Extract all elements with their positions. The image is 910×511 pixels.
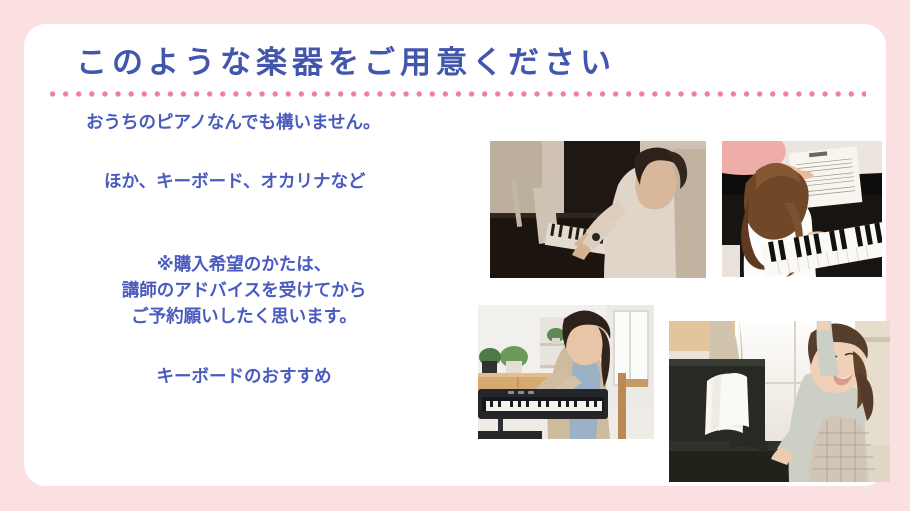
- photo-image: [669, 321, 890, 482]
- text-line: キーボードのおすすめ: [34, 363, 454, 389]
- content-card: このような楽器をご用意ください おうちのピアノなんでも構いません。 ほか、キーボ…: [24, 24, 886, 486]
- text-line: おうちのピアノなんでも構いません。: [86, 109, 454, 135]
- photo-image: [722, 141, 882, 277]
- text-block-3: ※購入希望のかたは、 講師のアドバイスを受けてから ご予約願いしたく思います。: [34, 251, 454, 329]
- page-title: このような楽器をご用意ください: [76, 40, 616, 86]
- text-line: ※購入希望のかたは、: [34, 251, 454, 277]
- photo-image: [478, 305, 654, 439]
- text-block-4: キーボードのおすすめ: [34, 363, 454, 389]
- text-block-1: おうちのピアノなんでも構いません。: [86, 109, 454, 135]
- text-line: ほか、キーボード、オカリナなど: [104, 168, 454, 194]
- text-line: 講師のアドバイスを受けてから: [34, 277, 454, 303]
- text-line: ご予約願いしたく思います。: [34, 303, 454, 329]
- photo-image: [490, 141, 706, 278]
- photo-upright-woman: [669, 321, 890, 482]
- slide-root: このような楽器をご用意ください おうちのピアノなんでも構いません。 ほか、キーボ…: [0, 0, 910, 511]
- text-column: おうちのピアノなんでも構いません。 ほか、キーボード、オカリナなど ※購入希望の…: [34, 109, 454, 389]
- photo-piano-woman: [490, 141, 706, 278]
- text-block-2: ほか、キーボード、オカリナなど: [104, 168, 454, 194]
- photo-lesson-girl: [722, 141, 882, 277]
- dotted-divider: [46, 91, 866, 97]
- photo-keyboard-woman: [478, 305, 654, 439]
